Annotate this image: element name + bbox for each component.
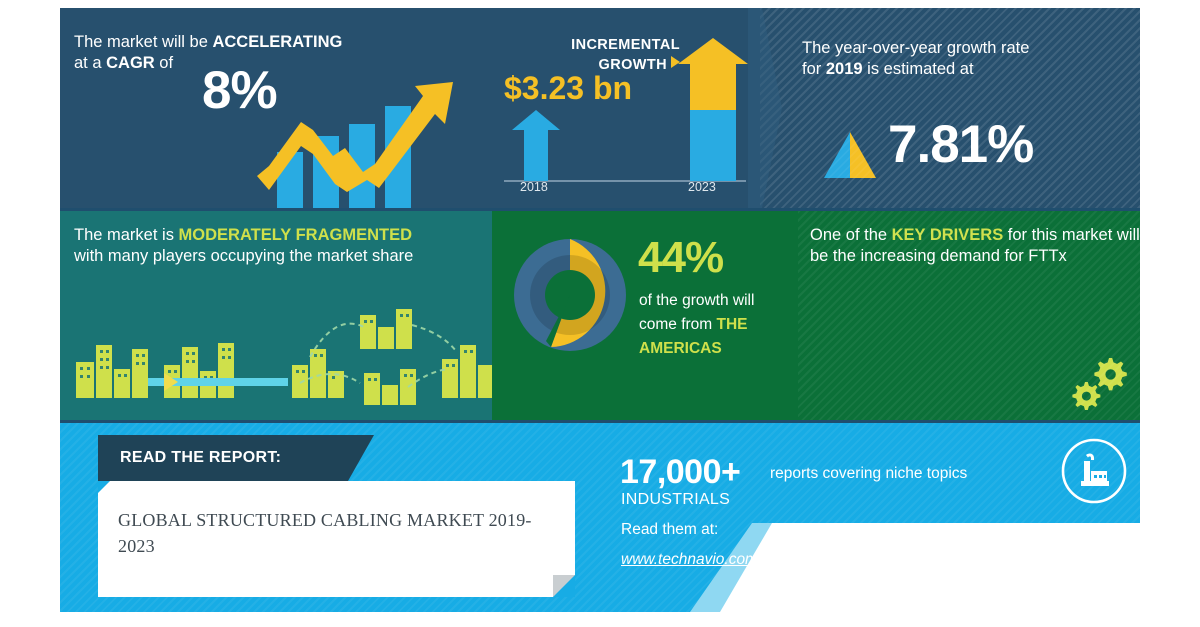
key-drivers-text-highlight: KEY DRIVERS — [892, 226, 1004, 244]
panel-americas-share: 44% of the growth will come from THE AME… — [492, 211, 798, 420]
logo-wedge-background — [700, 523, 1140, 612]
yoy-value: 7.81% — [888, 114, 1033, 175]
panel-yoy-growth: The year-over-year growth rate for 2019 … — [760, 8, 1140, 208]
key-drivers-text-prefix: One of the — [810, 226, 892, 244]
cagr-text-suffix: of — [155, 54, 173, 72]
cagr-text-cagr: CAGR — [106, 54, 155, 72]
footer-bar: READ THE REPORT: GLOBAL STRUCTURED CABLI… — [60, 423, 1140, 612]
fragmentation-text-highlight: MODERATELY FRAGMENTED — [179, 226, 412, 244]
yoy-text-line1: The year-over-year growth rate — [802, 39, 1029, 57]
key-drivers-statement: One of the KEY DRIVERS for this market w… — [810, 225, 1140, 267]
cagr-text-mid: at a — [74, 54, 106, 72]
yoy-text-prefix: for — [802, 60, 826, 78]
yoy-text-suffix: is estimated at — [863, 60, 974, 78]
infographic-canvas: The market will be ACCELERATING at a CAG… — [60, 8, 1140, 612]
axis-label-year-end: 2023 — [688, 180, 716, 194]
panel-fragmentation: The market is MODERATELY FRAGMENTED with… — [60, 211, 492, 420]
donut-chart-icon — [504, 229, 636, 361]
cagr-value: 8% — [202, 60, 277, 121]
americas-subtext: of the growth will come from THE AMERICA… — [639, 289, 789, 361]
report-title-card[interactable]: GLOBAL STRUCTURED CABLING MARKET 2019-20… — [98, 481, 575, 597]
card-folded-corner-decoration — [553, 575, 575, 597]
americas-percent-value: 44% — [638, 233, 723, 283]
row-market-metrics: The market will be ACCELERATING at a CAG… — [60, 8, 1140, 208]
incremental-label-line1: INCREMENTAL — [571, 37, 680, 53]
panel-incremental-growth: INCREMENTAL GROWTH $3.23 bn 2018 2023 — [490, 8, 760, 208]
tab-angled-edge-decoration — [348, 435, 374, 481]
report-title: GLOBAL STRUCTURED CABLING MARKET 2019-20… — [118, 507, 548, 559]
city-buildings-fragmentation-icon — [60, 307, 492, 420]
yoy-statement: The year-over-year growth rate for 2019 … — [802, 38, 1102, 80]
read-them-at-label: Read them at: — [621, 521, 718, 539]
reports-count-caption: reports covering niche topics — [770, 465, 967, 483]
fragmentation-text-prefix: The market is — [74, 226, 179, 244]
cagr-text-prefix: The market will be — [74, 33, 212, 51]
play-triangle-icon — [671, 56, 680, 68]
gears-icon — [1068, 356, 1130, 414]
americas-subtext-line1: of the growth will — [639, 292, 754, 309]
read-the-report-tab: READ THE REPORT: — [98, 435, 348, 481]
incremental-growth-value: $3.23 bn — [504, 70, 632, 107]
card-corner-notch-decoration — [98, 481, 110, 493]
row-market-insights: The market is MODERATELY FRAGMENTED with… — [60, 211, 1140, 420]
axis-label-year-start: 2018 — [520, 180, 548, 194]
triangle-up-icon — [822, 130, 878, 180]
ascending-bar-chart-with-arrow-icon — [255, 80, 460, 208]
yoy-text-year: 2019 — [826, 60, 863, 78]
reports-count: 17,000+ — [620, 453, 740, 492]
fragmentation-text-suffix: with many players occupying the market s… — [74, 247, 413, 265]
factory-icon — [1060, 437, 1128, 505]
americas-subtext-prefix: come from — [639, 316, 717, 333]
website-link[interactable]: www.technavio.com — [621, 551, 758, 569]
panel-cagr: The market will be ACCELERATING at a CAG… — [60, 8, 490, 208]
fragmentation-statement: The market is MODERATELY FRAGMENTED with… — [74, 225, 492, 267]
sector-label: INDUSTRIALS — [621, 491, 730, 509]
panel-key-drivers: One of the KEY DRIVERS for this market w… — [798, 211, 1140, 420]
cagr-text-accelerating: ACCELERATING — [212, 33, 342, 51]
read-the-report-label: READ THE REPORT: — [120, 449, 281, 467]
